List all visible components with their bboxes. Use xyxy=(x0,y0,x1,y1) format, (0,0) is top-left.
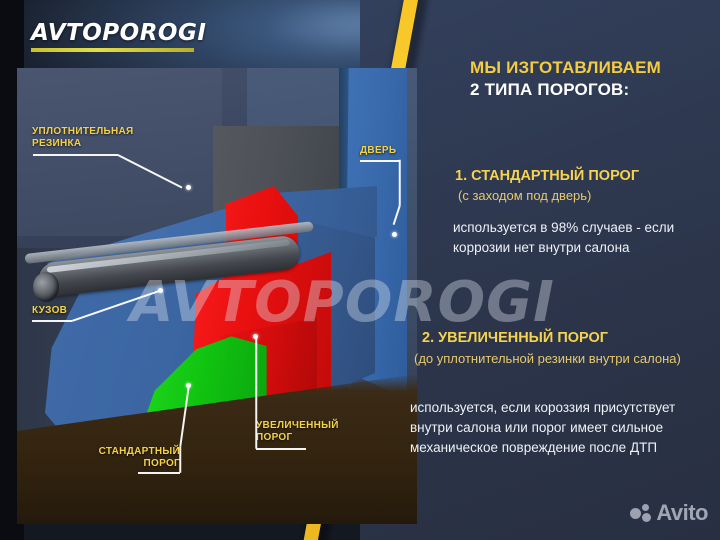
callout-door-label: ДВЕРЬ xyxy=(360,145,396,157)
callout-seal-underline xyxy=(33,154,118,156)
callout-enlarged-label-line2: ПОРОГ xyxy=(256,432,339,444)
poster-canvas: AVTOPOROGI AVTOPOROGI УПЛОТНИТЕЛЬНАЯ РЕЗ… xyxy=(0,0,720,540)
callout-door: ДВЕРЬ xyxy=(360,145,396,157)
callout-standard: СТАНДАРТНЫЙ ПОРОГ xyxy=(92,446,180,470)
callout-body-label: КУЗОВ xyxy=(32,305,67,317)
callout-seal: УПЛОТНИТЕЛЬНАЯ РЕЗИНКА xyxy=(32,126,134,150)
panel-heading-line1: МЫ ИЗГОТАВЛИВАЕМ xyxy=(470,58,661,78)
panel-content: МЫ ИЗГОТАВЛИВАЕМ 2 ТИПА ПОРОГОВ: 1. СТАН… xyxy=(405,0,705,540)
callout-door-underline xyxy=(360,160,400,162)
section-2-subtitle: (до уплотнительной резинки внутри салона… xyxy=(414,350,694,368)
callout-standard-underline xyxy=(138,472,180,474)
callout-standard-label-line1: СТАНДАРТНЫЙ xyxy=(92,446,180,458)
brand-logo-underline xyxy=(31,48,194,52)
callout-enlarged-underline xyxy=(256,448,306,450)
rubber-seal-end-cap xyxy=(33,272,59,302)
car-side-upper-panel-inner xyxy=(17,68,222,236)
callout-door-leader-v xyxy=(399,160,401,206)
callout-standard-label-line2: ПОРОГ xyxy=(92,458,180,470)
callout-door-dot xyxy=(392,232,397,237)
callout-enlarged-leader xyxy=(255,337,257,449)
callout-enlarged: УВЕЛИЧЕННЫЙ ПОРОГ xyxy=(256,420,339,444)
callout-body-underline xyxy=(32,320,72,322)
section-2-title: 2. УВЕЛИЧЕННЫЙ ПОРОГ xyxy=(422,330,608,346)
panel-heading-line2: 2 ТИПА ПОРОГОВ: xyxy=(470,80,629,100)
callout-enlarged-dot xyxy=(253,334,258,339)
callout-standard-dot xyxy=(186,383,191,388)
callout-seal-label-line1: УПЛОТНИТЕЛЬНАЯ xyxy=(32,126,134,138)
callout-standard-leader-v xyxy=(179,447,181,473)
callout-enlarged-label-line1: УВЕЛИЧЕННЫЙ xyxy=(256,420,339,432)
callout-body: КУЗОВ xyxy=(32,305,67,317)
avito-watermark: Avito xyxy=(630,500,708,526)
brand-logo: AVTOPOROGI xyxy=(31,20,206,52)
avito-logo-text: Avito xyxy=(656,500,708,526)
brand-logo-text: AVTOPOROGI xyxy=(31,20,206,46)
callout-seal-label-line2: РЕЗИНКА xyxy=(32,138,134,150)
section-2-body: используется, если короззия присутствует… xyxy=(410,398,700,458)
section-1-title: 1. СТАНДАРТНЫЙ ПОРОГ xyxy=(455,168,639,184)
callout-body-dot xyxy=(158,288,163,293)
section-1-body: используется в 98% случаев - если корроз… xyxy=(453,218,715,258)
avito-logo-icon xyxy=(630,504,652,522)
callout-seal-dot xyxy=(186,185,191,190)
section-1-subtitle: (с заходом под дверь) xyxy=(458,188,591,203)
